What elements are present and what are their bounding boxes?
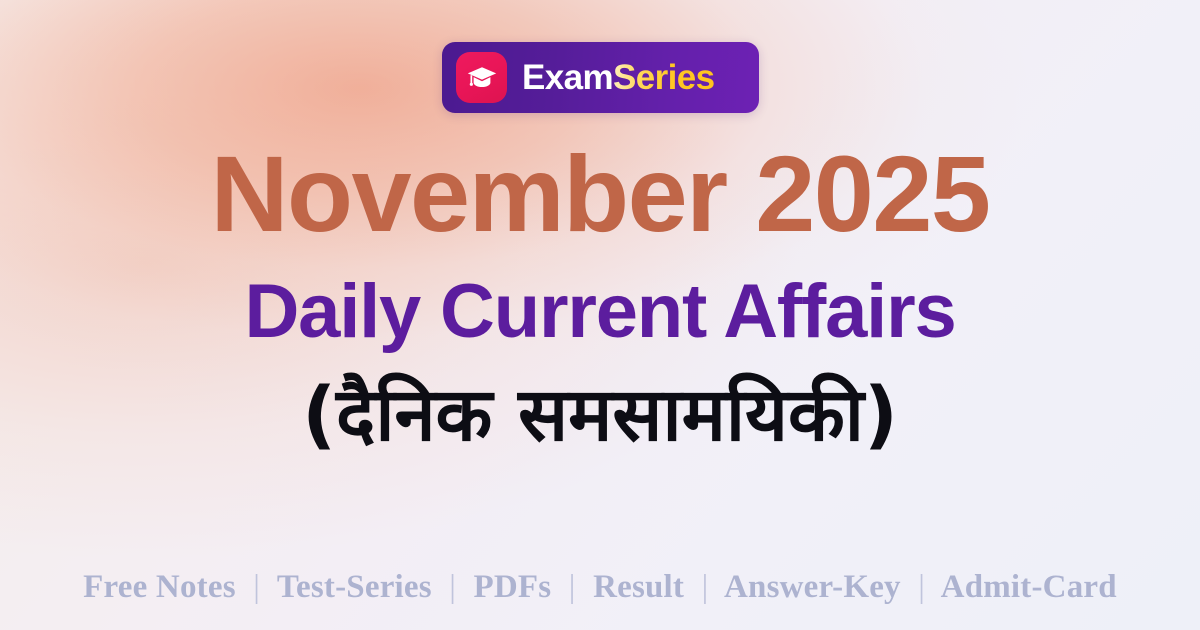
- footer-separator: |: [693, 569, 718, 605]
- footer-link-bar: Free Notes | Test-Series | PDFs | Result…: [0, 569, 1200, 606]
- footer-link-result[interactable]: Result: [593, 569, 684, 605]
- footer-link-free-notes[interactable]: Free Notes: [83, 569, 236, 605]
- footer-separator: |: [244, 569, 269, 605]
- footer-link-test-series[interactable]: Test-Series: [277, 569, 432, 605]
- footer-link-admit-card[interactable]: Admit-Card: [941, 569, 1117, 605]
- page-subtitle-hindi: (दैनिक समसामयिकी): [0, 372, 1200, 459]
- footer-link-answer-key[interactable]: Answer-Key: [724, 569, 901, 605]
- footer-link-pdfs[interactable]: PDFs: [474, 569, 552, 605]
- headline-block: November 2025 Daily Current Affairs (दैन…: [0, 140, 1200, 459]
- brand-logo-badge[interactable]: ExamSeries: [442, 42, 759, 113]
- brand-wordmark: ExamSeries: [522, 60, 715, 95]
- page-subtitle: Daily Current Affairs: [0, 274, 1200, 350]
- wordmark-series: Series: [613, 60, 715, 95]
- poster-canvas: ExamSeries November 2025 Daily Current A…: [0, 0, 1200, 630]
- footer-separator: |: [560, 569, 585, 605]
- graduation-cap-icon: [456, 52, 507, 103]
- wordmark-exam: Exam: [522, 60, 613, 95]
- footer-separator: |: [440, 569, 465, 605]
- footer-separator: |: [909, 569, 934, 605]
- page-title-month-year: November 2025: [0, 140, 1200, 248]
